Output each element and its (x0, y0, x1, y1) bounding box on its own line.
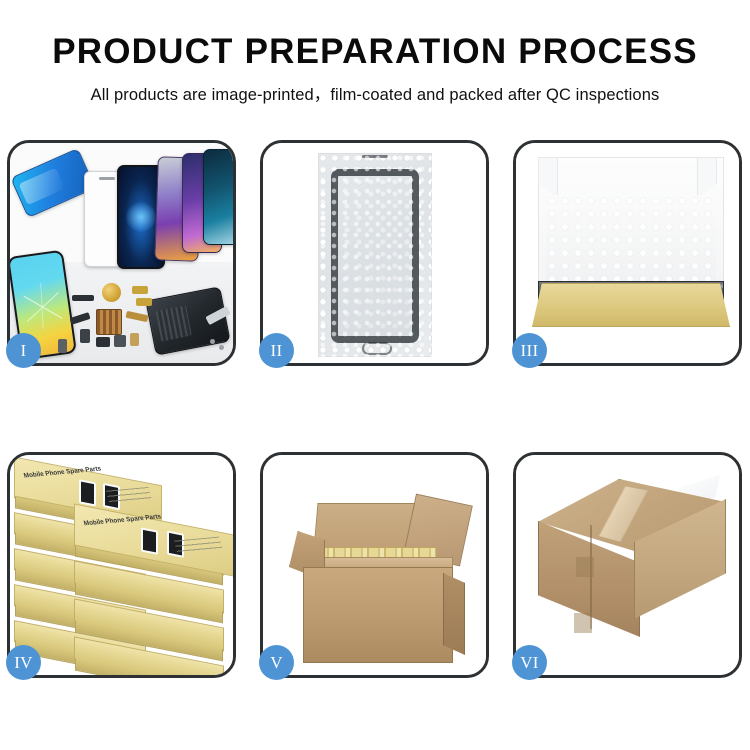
screw-icon (210, 339, 215, 344)
spare-part-icon (72, 295, 94, 301)
step-panel-5[interactable]: V (260, 452, 489, 678)
step-badge-3: III (512, 333, 547, 368)
carton-hand-hole-icon (574, 613, 592, 633)
speaker-coil-icon (102, 283, 121, 302)
flex-cable-icon (130, 333, 139, 346)
process-steps-grid: I II III (7, 140, 743, 678)
blue-lcd-panel-icon (10, 148, 95, 218)
step-badge-4: IV (6, 645, 41, 680)
spec-list-print-icon (106, 487, 152, 504)
step-image-phone-parts-assortment (10, 143, 233, 363)
box-side-icon (75, 659, 223, 675)
camera-module-icon (114, 335, 126, 347)
page-subtitle: All products are image-printed，film-coat… (0, 81, 750, 105)
step-badge-6: VI (512, 645, 547, 680)
step-badge-1: I (6, 333, 41, 368)
carton-body-icon (303, 567, 453, 663)
flex-cable-icon (136, 298, 152, 306)
foam-padding-icon (546, 195, 716, 281)
step-panel-6[interactable]: VI (513, 452, 742, 678)
step-panel-4[interactable]: Mobile Phone Spare Parts Mobile Phone Sp… (7, 452, 236, 678)
box-stack: Mobile Phone Spare Parts Mobile Phone Sp… (14, 463, 233, 673)
step-image-stacked-retail-boxes: Mobile Phone Spare Parts Mobile Phone Sp… (10, 455, 233, 675)
product-preparation-infographic: PRODUCT PREPARATION PROCESS All products… (0, 0, 750, 750)
step-image-sealed-shipping-carton (516, 455, 739, 675)
sealed-shipping-carton (534, 479, 726, 655)
step-image-boxes-in-open-carton (263, 455, 486, 675)
phone-glass-screen-icon (331, 169, 419, 343)
sim-tray-icon (58, 339, 67, 353)
step-panel-2[interactable]: II (260, 140, 489, 366)
carton-side-icon (443, 573, 465, 655)
step-panel-1[interactable]: I (7, 140, 236, 366)
teal-phone-screen-icon (203, 149, 233, 245)
page-title: PRODUCT PREPARATION PROCESS (0, 34, 750, 71)
carton-hand-hole-icon (576, 557, 594, 577)
open-shipping-carton (289, 489, 465, 663)
spare-part-icon (96, 337, 110, 347)
step-badge-5: V (259, 645, 294, 680)
step-image-bubble-wrapped-screen (263, 143, 486, 363)
battery-connector-icon (80, 329, 90, 343)
step-panel-3[interactable]: III (513, 140, 742, 366)
screw-icon (219, 345, 224, 350)
connector-grid-icon (96, 309, 122, 335)
kraft-box-base-icon (532, 283, 730, 327)
step-badge-2: II (259, 333, 294, 368)
box-label-text: Mobile Phone Spare Parts (84, 513, 163, 527)
phone-screen-print-icon (79, 479, 96, 506)
step-image-screen-in-open-box (516, 143, 739, 363)
flex-cable-icon (132, 286, 148, 294)
phone-screen-print-icon (141, 527, 158, 554)
header: PRODUCT PREPARATION PROCESS All products… (0, 0, 750, 105)
box-label-text: Mobile Phone Spare Parts (23, 465, 102, 479)
